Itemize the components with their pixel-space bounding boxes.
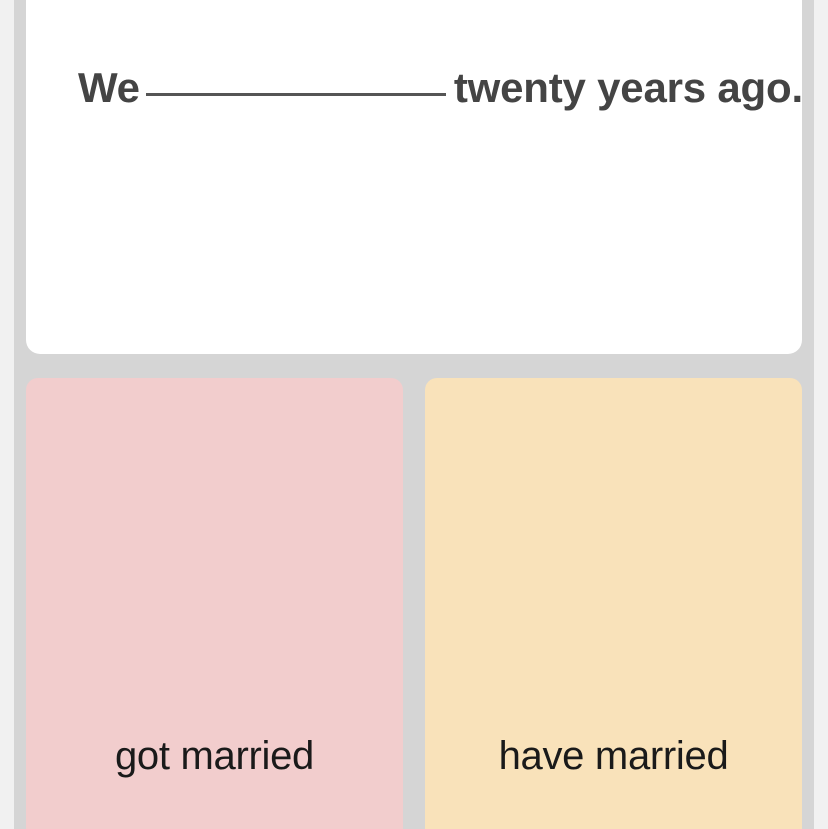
answer-choice-have-married[interactable]: have married (425, 378, 802, 829)
sentence-after-blank: twenty years ago. (454, 64, 803, 111)
question-card: Wetwenty years ago. (26, 0, 802, 354)
question-sentence: Wetwenty years ago. (78, 60, 776, 116)
quiz-screen: Wetwenty years ago. got married have mar… (14, 0, 814, 829)
answer-choice-label: got married (26, 733, 403, 779)
answer-blank[interactable] (146, 92, 446, 96)
answer-choices: got married have married (26, 378, 802, 829)
sentence-before-blank: We (78, 64, 140, 111)
answer-choice-label: have married (425, 733, 802, 779)
answer-choice-got-married[interactable]: got married (26, 378, 403, 829)
